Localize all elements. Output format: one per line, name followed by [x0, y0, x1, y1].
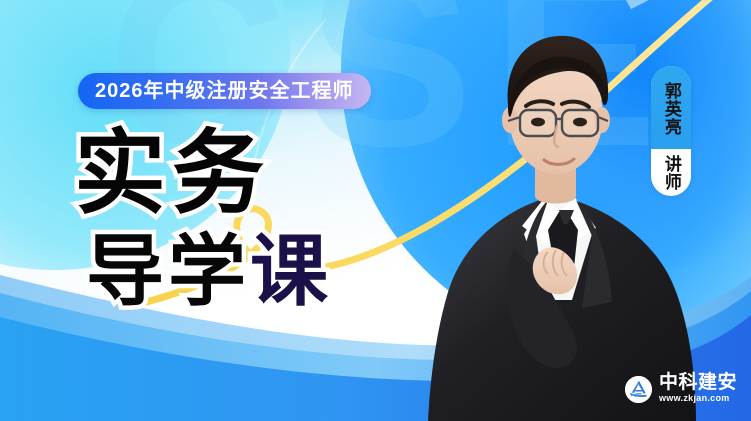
instructor-name-section: 郭英亮	[651, 66, 691, 149]
brand-url-text: www.zkjan.com	[659, 393, 737, 405]
headline-line-2: 导学课	[86, 232, 332, 310]
brand-text-block: 中科建安 www.zkjan.com	[659, 373, 737, 405]
instructor-name-text: 郭英亮	[662, 82, 680, 136]
brand-logo[interactable]: 中科建安 www.zkjan.com	[625, 373, 737, 405]
headline-line-2-part-1: 导学	[86, 227, 250, 315]
instructor-role-section: 讲师	[651, 149, 691, 196]
brand-name-text: 中科建安	[659, 373, 737, 393]
instructor-portrait-icon	[396, 0, 716, 421]
course-subtitle-badge: 2026年中级注册安全工程师	[78, 73, 371, 109]
instructor-role-text: 讲师	[662, 155, 680, 191]
course-promo-banner: CSE	[0, 0, 751, 421]
course-subtitle-text: 2026年中级注册安全工程师	[95, 81, 354, 101]
headline-block: 实务 导学课	[74, 128, 332, 310]
instructor-name-pill: 郭英亮 讲师	[651, 66, 691, 196]
headline-line-2-part-2: 课	[250, 227, 332, 315]
zkjan-mark-shape-icon	[625, 376, 652, 403]
zkjan-circle-logo-icon	[625, 376, 652, 403]
headline-line-1: 实务	[74, 128, 332, 220]
